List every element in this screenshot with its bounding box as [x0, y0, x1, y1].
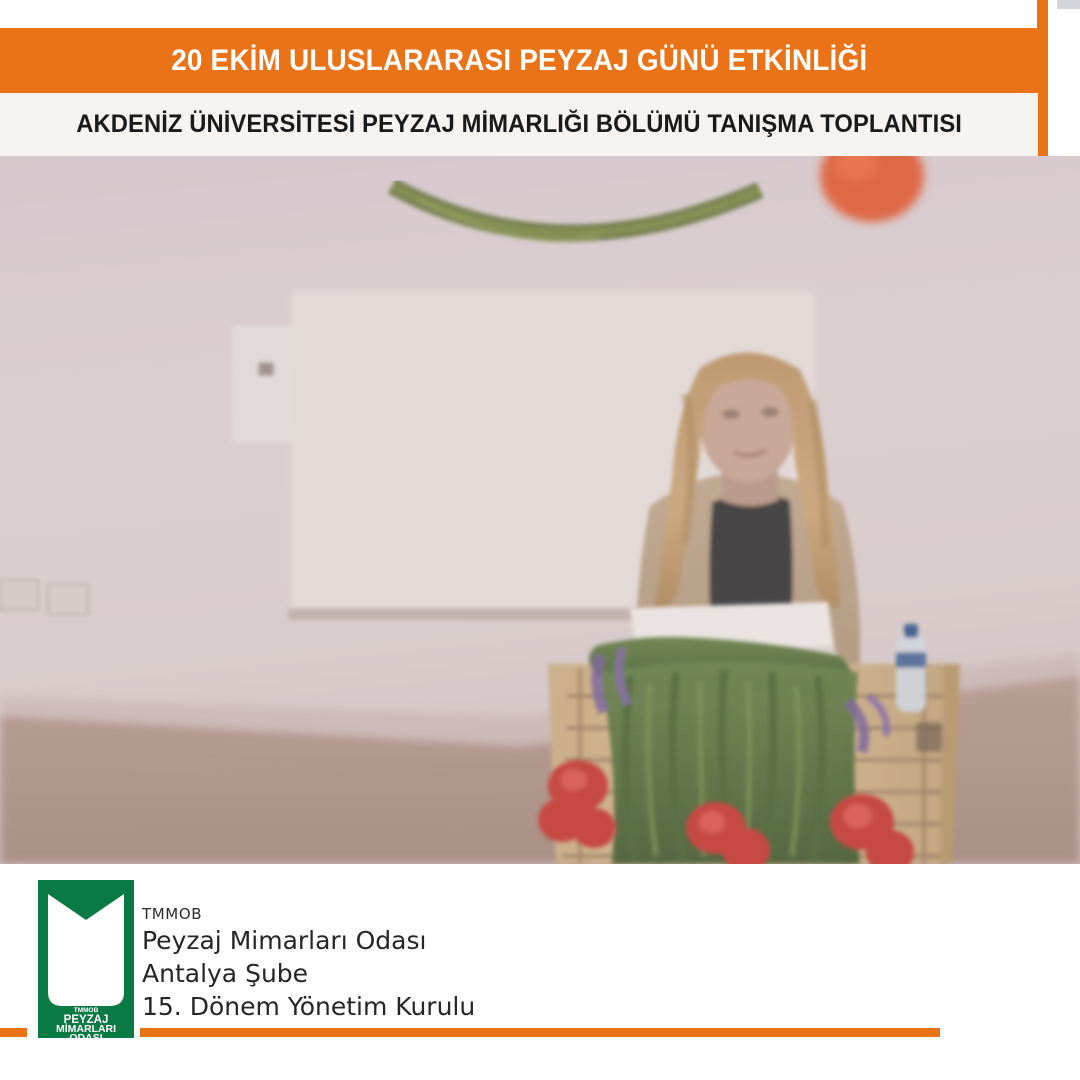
event-photo [0, 156, 1080, 864]
org-branch: Antalya Şube [142, 957, 475, 990]
org-term: 15. Dönem Yönetim Kurulu [142, 990, 475, 1023]
footer-left-tick [0, 1028, 27, 1037]
footer-divider-rule [140, 1028, 940, 1037]
org-name: Peyzaj Mimarları Odası [142, 924, 475, 957]
subheadline-band: AKDENİZ ÜNİVERSİTESİ PEYZAJ MİMARLIĞI BÖ… [0, 93, 1038, 156]
logo-line-tmmob: TMMOB [74, 1007, 99, 1014]
corner-chip [1057, 0, 1080, 9]
org-prefix: TMMOB [142, 905, 475, 924]
poster-canvas: 20 EKİM ULUSLARARASI PEYZAJ GÜNÜ ETKİNLİ… [0, 0, 1080, 1080]
event-photo-illustration [0, 156, 1080, 864]
tmmob-peyzaj-logo: TMMOB PEYZAJ MİMARLARI ODASI [38, 880, 134, 1038]
subheadline-text: AKDENİZ ÜNİVERSİTESİ PEYZAJ MİMARLIĞI BÖ… [76, 110, 962, 139]
headline-text: 20 EKİM ULUSLARARASI PEYZAJ GÜNÜ ETKİNLİ… [171, 44, 867, 78]
logo-mark-icon: TMMOB PEYZAJ MİMARLARI ODASI [38, 880, 134, 1038]
logo-line-odasi: ODASI [69, 1032, 102, 1038]
organisation-text-block: TMMOB Peyzaj Mimarları Odası Antalya Şub… [142, 905, 475, 1023]
headline-band: 20 EKİM ULUSLARARASI PEYZAJ GÜNÜ ETKİNLİ… [0, 28, 1038, 93]
